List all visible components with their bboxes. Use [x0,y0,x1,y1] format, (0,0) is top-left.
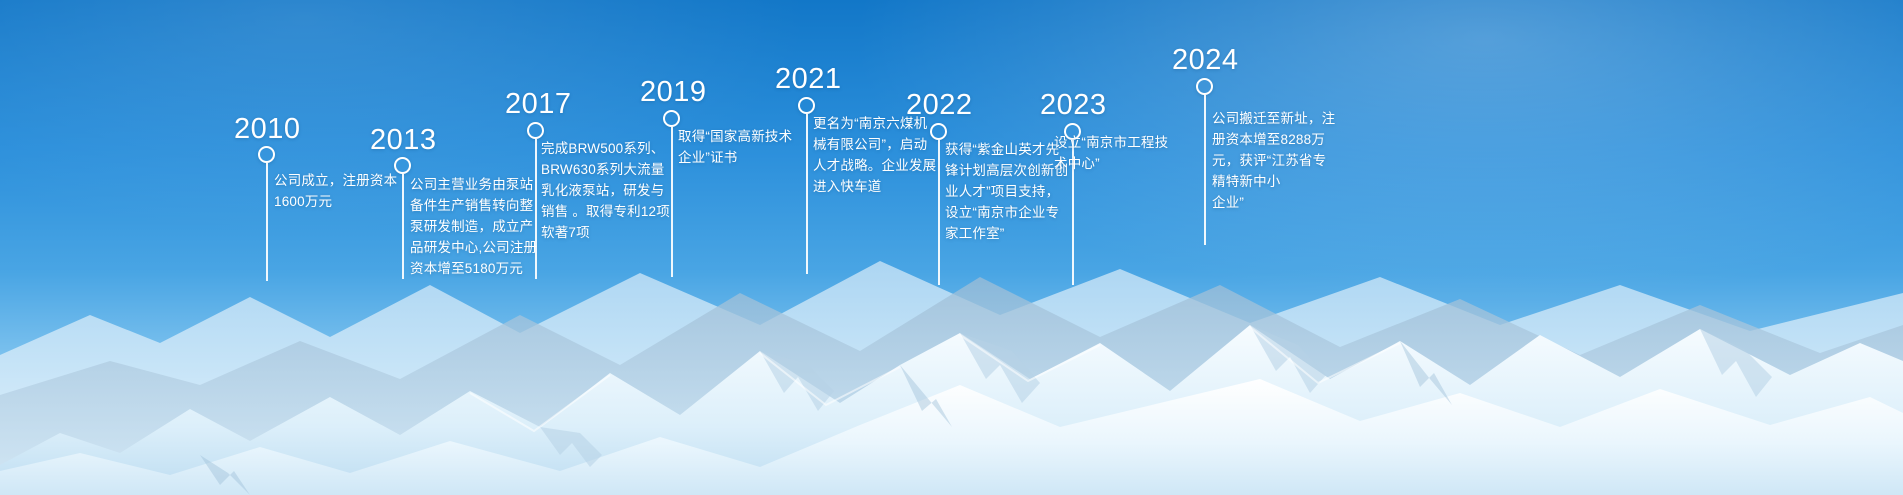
event-year-label: 2013 [370,124,437,157]
timeline-infographic: 2010公司成立，注册资本 1600万元2013公司主营业务由泵站 备件生产销售… [0,0,1903,495]
event-stem-line [806,114,808,274]
event-description: 更名为“南京六煤机 械有限公司”，启动 人才战略。企业发展 进入快车道 [813,113,948,197]
event-description: 公司成立，注册资本 1600万元 [274,170,404,212]
event-description: 完成BRW500系列、 BRW630系列大流量 乳化液泵站，研发与 销售 。取得… [541,138,681,243]
event-year-label: 2010 [234,113,301,146]
event-description: 设立“南京市工程技 术中心” [1054,132,1189,174]
event-marker-circle-icon[interactable] [663,110,680,127]
event-year-label: 2022 [906,89,973,122]
event-description: 公司主营业务由泵站 备件生产销售转向整 泵研发制造，成立产 品研发中心,公司注册… [410,174,540,279]
event-year-label: 2017 [505,88,572,121]
event-marker-circle-icon[interactable] [527,122,544,139]
event-stem-line [938,140,940,285]
event-marker-circle-icon[interactable] [930,123,947,140]
event-description: 公司搬迁至新址，注 册资本增至8288万 元，获评“江苏省专 精特新中小 企业” [1212,108,1352,213]
event-year-label: 2024 [1172,44,1239,77]
event-year-label: 2021 [775,63,842,96]
timeline-track: 2010公司成立，注册资本 1600万元2013公司主营业务由泵站 备件生产销售… [0,0,1903,495]
event-year-label: 2019 [640,76,707,109]
event-stem-line [266,163,268,281]
event-marker-circle-icon[interactable] [1196,78,1213,95]
event-year-label: 2023 [1040,89,1107,122]
event-stem-line [535,139,537,279]
event-stem-line [671,127,673,277]
event-description: 取得“国家高新技术 企业”证书 [678,126,808,168]
event-marker-circle-icon[interactable] [258,146,275,163]
event-stem-line [1204,95,1206,245]
event-marker-circle-icon[interactable] [798,97,815,114]
event-stem-line [402,174,404,279]
event-marker-circle-icon[interactable] [394,157,411,174]
